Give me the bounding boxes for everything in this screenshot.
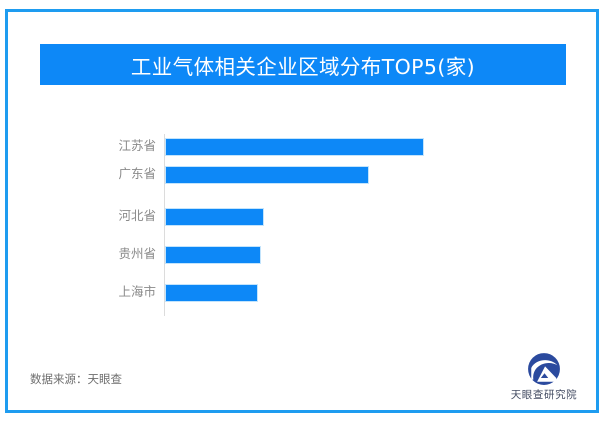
chart-title-bar: 工业气体相关企业区域分布TOP5(家)	[40, 44, 566, 85]
brand-logo: 天眼查研究院	[498, 352, 590, 408]
bar-row[interactable]: 河北省	[0, 208, 605, 226]
bar-track	[166, 247, 566, 263]
bar-row[interactable]: 广东省	[0, 166, 605, 184]
brand-logo-text: 天眼查研究院	[511, 387, 578, 402]
bar-track	[166, 285, 566, 301]
bar-track	[166, 139, 566, 155]
page-title: 工业气体相关企业区域分布TOP5(家)	[131, 50, 475, 80]
bar-fill[interactable]	[166, 247, 260, 263]
bar-track	[166, 209, 566, 225]
tianyancha-logo-icon	[527, 352, 561, 386]
bar-category-label: 上海市	[36, 283, 156, 301]
data-source-label: 数据来源：天眼查	[30, 371, 122, 387]
bar-category-label: 河北省	[36, 207, 156, 225]
chart-poster: 工业气体相关企业区域分布TOP5(家) 江苏省 广东省 河北省	[0, 0, 605, 425]
bar-category-label: 贵州省	[36, 245, 156, 263]
bar-category-label: 广东省	[36, 165, 156, 183]
bar-track	[166, 167, 566, 183]
bar-fill[interactable]	[166, 285, 257, 301]
bar-category-label: 江苏省	[36, 137, 156, 155]
bar-chart: 江苏省 广东省 河北省 贵州省	[0, 128, 605, 323]
bar-row[interactable]: 上海市	[0, 284, 605, 302]
bar-fill[interactable]	[166, 167, 368, 183]
bar-fill[interactable]	[166, 209, 263, 225]
bar-row[interactable]: 江苏省	[0, 138, 605, 156]
bar-fill[interactable]	[166, 139, 423, 155]
bar-rows: 江苏省 广东省 河北省 贵州省	[0, 128, 605, 323]
bar-row[interactable]: 贵州省	[0, 246, 605, 264]
